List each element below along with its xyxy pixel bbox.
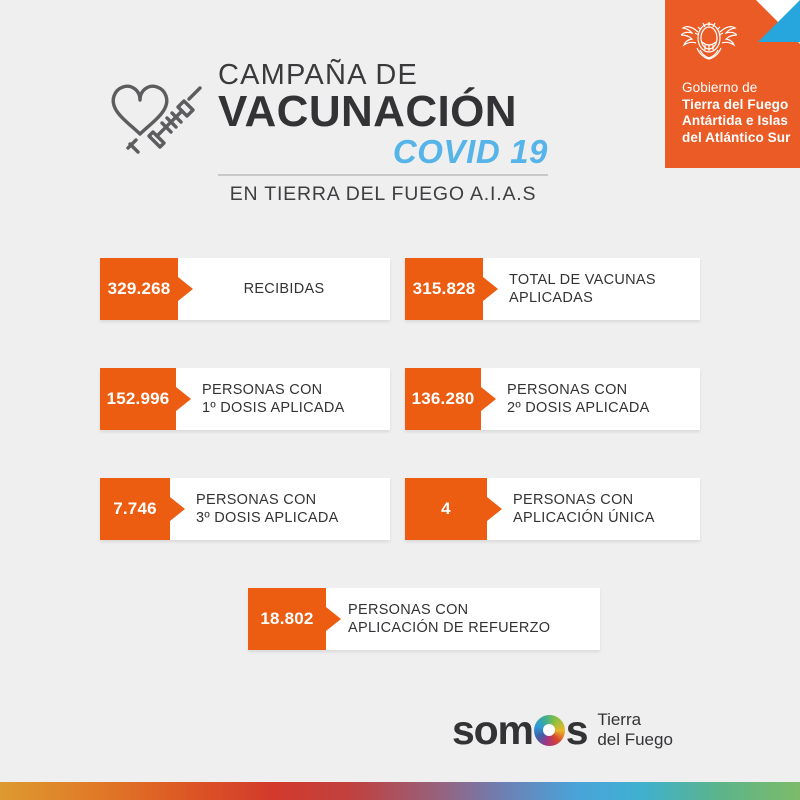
argentina-coat-of-arms-icon (681, 12, 737, 66)
campaign-subtitle: EN TIERRA DEL FUEGO A.I.A.S (218, 182, 548, 206)
government-badge: Gobierno de Tierra del Fuego Antártida e… (665, 0, 800, 168)
somos-tagline-line1: Tierra (597, 710, 673, 730)
header: CAMPAÑA DE VACUNACIÓN COVID 19 EN TIERRA… (0, 60, 660, 210)
somos-wordmark: som s (452, 710, 587, 751)
stat-card-segunda-dosis[interactable]: 136.280 PERSONAS CON 2º DOSIS APLICADA (405, 368, 700, 430)
gov-line-2: Tierra del Fuego (682, 97, 790, 114)
stat-label: PERSONAS CON APLICACIÓN DE REFUERZO (326, 601, 550, 638)
stats-row-1: 329.268 RECIBIDAS 315.828 TOTAL DE VACUN… (0, 258, 800, 320)
somos-text-part1: som (452, 710, 533, 751)
stat-card-primera-dosis[interactable]: 152.996 PERSONAS CON 1º DOSIS APLICADA (100, 368, 390, 430)
stat-value: 136.280 (405, 368, 481, 430)
title-divider (218, 174, 548, 176)
stat-card-recibidas[interactable]: 329.268 RECIBIDAS (100, 258, 390, 320)
heart-syringe-icon (100, 70, 208, 162)
stat-label: PERSONAS CON 3º DOSIS APLICADA (170, 491, 339, 528)
stat-value: 4 (405, 478, 487, 540)
campaign-covid-label: COVID 19 (218, 133, 548, 170)
stats-row-3: 7.746 PERSONAS CON 3º DOSIS APLICADA 4 P… (0, 478, 800, 540)
government-badge-text: Gobierno de Tierra del Fuego Antártida e… (682, 80, 790, 146)
stat-value: 7.746 (100, 478, 170, 540)
gov-line-4: del Atlántico Sur (682, 130, 790, 147)
stat-card-tercera-dosis[interactable]: 7.746 PERSONAS CON 3º DOSIS APLICADA (100, 478, 390, 540)
stat-value: 152.996 (100, 368, 176, 430)
stat-label: TOTAL DE VACUNAS APLICADAS (483, 271, 656, 308)
gov-line-3: Antártida e Islas (682, 113, 790, 130)
somos-tagline: Tierra del Fuego (597, 710, 673, 750)
gov-line-1: Gobierno de (682, 80, 790, 97)
stats-section: 329.268 RECIBIDAS 315.828 TOTAL DE VACUN… (0, 258, 800, 698)
stats-row-4: 18.802 PERSONAS CON APLICACIÓN DE REFUER… (0, 588, 800, 650)
somos-text-part2: s (566, 710, 588, 751)
stat-card-refuerzo[interactable]: 18.802 PERSONAS CON APLICACIÓN DE REFUER… (248, 588, 600, 650)
stats-row-2: 152.996 PERSONAS CON 1º DOSIS APLICADA 1… (0, 368, 800, 430)
stat-card-aplicacion-unica[interactable]: 4 PERSONAS CON APLICACIÓN ÚNICA (405, 478, 700, 540)
somos-brand-logo: som s Tierra del Fuego (452, 707, 673, 753)
stat-value: 18.802 (248, 588, 326, 650)
header-text-block: CAMPAÑA DE VACUNACIÓN COVID 19 EN TIERRA… (218, 60, 548, 206)
stat-card-total-aplicadas[interactable]: 315.828 TOTAL DE VACUNAS APLICADAS (405, 258, 700, 320)
stat-value: 329.268 (100, 258, 178, 320)
somos-circle-emblem-icon (534, 715, 565, 746)
stat-label: PERSONAS CON APLICACIÓN ÚNICA (487, 491, 655, 528)
stat-label: RECIBIDAS (178, 280, 390, 299)
stat-label: PERSONAS CON 2º DOSIS APLICADA (481, 381, 650, 418)
stat-value: 315.828 (405, 258, 483, 320)
campaign-title-line2: VACUNACIÓN (218, 89, 548, 134)
stat-label: PERSONAS CON 1º DOSIS APLICADA (176, 381, 345, 418)
somos-tagline-line2: del Fuego (597, 730, 673, 750)
bottom-gradient-bar (0, 782, 800, 800)
badge-blue-corner-icon (758, 0, 800, 42)
